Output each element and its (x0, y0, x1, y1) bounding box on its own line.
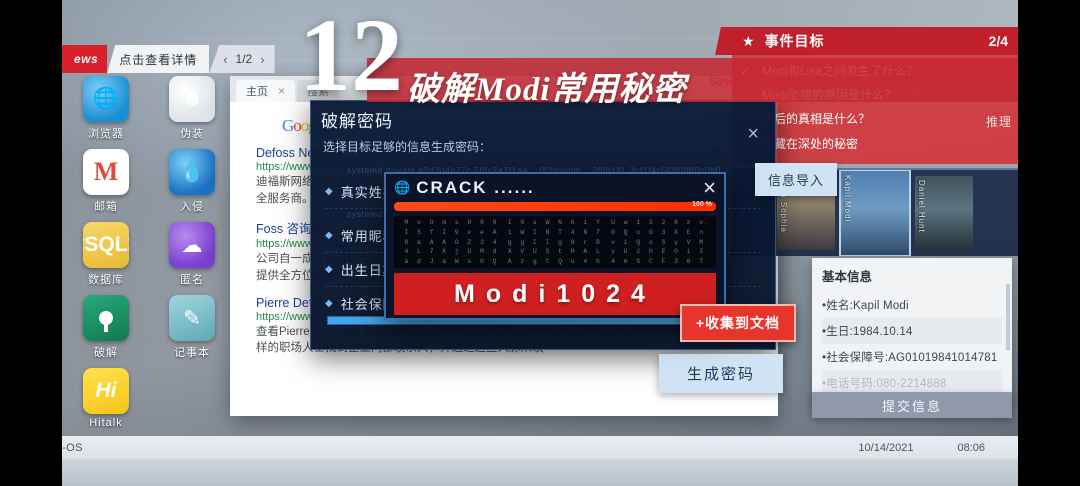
bullet-icon: ◆ (325, 230, 333, 241)
browser-tab-home[interactable]: 主页 × (236, 80, 295, 102)
scramble-row: a d J a W s 0 Q (404, 258, 499, 265)
percent-mark: 50% (710, 75, 750, 89)
news-ticker: ews 点击查看详情 ‹ 1/2 › (62, 45, 275, 73)
crack-modal-title: CRACK ...... (416, 178, 534, 198)
desktop-icon-label: Hitalk (68, 417, 144, 429)
desktop-icon-label: 浏览器 (68, 125, 144, 141)
info-card-scrollbar[interactable] (1006, 284, 1010, 350)
browser-tab-bar: 主页 × 搜索 (230, 76, 778, 102)
scramble-row: M v O m s 8 8 8 (404, 219, 499, 226)
info-card-title: 基本信息 (822, 266, 1002, 285)
desktop-icon-notes[interactable]: ✎ 记事本 (154, 295, 230, 360)
scramble-row: I 0 s W N 6 i Y (508, 219, 603, 226)
bullet-icon: ◆ (325, 264, 333, 275)
desktop-icon-label: 匿名 (154, 271, 230, 287)
desktop-icon-label: 邮箱 (68, 198, 144, 214)
logo-letter: o (293, 116, 301, 135)
close-icon[interactable]: × (747, 123, 759, 146)
browser-tab-label: 搜索 (307, 83, 329, 99)
basic-info-card: 基本信息 •姓名:Kapil Modi •生日:1984.10.14 •社会保障… (812, 258, 1012, 402)
screen-root: 🌐 浏览器 ☻ 伪装 邮箱 💧 入侵 <SQL> 数据库 ☁ 匿名 (0, 0, 1080, 486)
scramble-row: y U 2 h E 0 i I (611, 248, 706, 255)
scramble-row: A z g t Q u 4 b (508, 258, 603, 265)
objectives-header: ★ 事件目标 2/4 (732, 27, 1018, 55)
objective-text: Modi坠楼的原因是什么？ (762, 87, 896, 103)
drop-icon: 💧 (169, 149, 215, 195)
taskbar: MDK-OS 10/14/2021 08:06 星期四 (0, 436, 1080, 486)
desktop-icon-disguise[interactable]: ☻ 伪装 (154, 76, 230, 141)
background-line (242, 60, 762, 61)
scramble-column: U w 1 3 2 8 z v 0 Q o G 3 X E n v i Q o … (611, 219, 706, 265)
reasoning-button[interactable]: 推理 (986, 113, 1012, 130)
desktop-icon-anonymous[interactable]: ☁ 匿名 (154, 222, 230, 287)
taskbar-date: 10/14/2021 (858, 442, 913, 454)
collect-to-document-button[interactable]: +收集到文档 (680, 304, 796, 342)
desktop-icon-browser[interactable]: 🌐 浏览器 (68, 76, 144, 141)
game-viewport: 🌐 浏览器 ☻ 伪装 邮箱 💧 入侵 <SQL> 数据库 ☁ 匿名 (62, 0, 1018, 486)
generate-password-button[interactable]: 生成密码 (659, 354, 783, 393)
crack-progress-modal: 🌐 CRACK ...... × 100 % M v O m s 8 8 8 I… (384, 172, 726, 320)
news-badge: ews (62, 45, 107, 73)
scramble-grid: M v O m s 8 8 8 I S f I 9 v e A 8 a A A … (394, 216, 716, 268)
portrait-name: Kapil Modi (843, 175, 852, 222)
info-row-ssn: •社会保障号:AG01019841014781 (822, 344, 1002, 370)
mail-icon (83, 149, 129, 195)
portrait-name: Daniel Hunt (917, 180, 926, 233)
cracked-password-result: Modi1024 (394, 273, 716, 315)
desktop-icon-label: 记事本 (154, 344, 230, 360)
taskbar-inner: MDK-OS 10/14/2021 08:06 星期四 (0, 436, 1080, 460)
scramble-row: 1 W I N T 4 N 7 (508, 229, 603, 236)
news-prev-button[interactable]: ‹ (223, 52, 227, 67)
news-message[interactable]: 点击查看详情 (107, 45, 209, 73)
desktop-icon-grid: 🌐 浏览器 ☻ 伪装 邮箱 💧 入侵 <SQL> 数据库 ☁ 匿名 (68, 76, 243, 429)
mask-icon: ☻ (169, 76, 215, 122)
star-icon: ★ (742, 33, 755, 50)
submit-info-button[interactable]: 提交信息 (812, 392, 1012, 418)
news-page-indicator: 1/2 (236, 52, 253, 66)
desktop-icon-label: 入侵 (154, 198, 230, 214)
crack-progress-bar: 100 % (394, 202, 716, 211)
portrait-kapil-modi[interactable]: Kapil Modi (841, 171, 909, 255)
objective-item[interactable]: ✓ Modi和Lisa之间发生了什么？ (732, 59, 1018, 83)
bullet-icon: ◆ (325, 298, 333, 309)
scramble-row: 0 Q o G 3 X E n (611, 229, 706, 236)
panel-title: 破解密码 (311, 101, 775, 134)
taskbar-time: 08:06 (957, 442, 985, 454)
info-row-birthday: •生日:1984.10.14 (822, 318, 1002, 344)
objective-text: 隐藏在深处的秘密 (762, 136, 858, 152)
browser-icon: 🌐 (83, 76, 129, 122)
desktop-icon-intrusion[interactable]: 💧 入侵 (154, 149, 230, 214)
bullet-icon: ◆ (325, 186, 333, 197)
scramble-column: M v O m s 8 8 8 I S f I 9 v e A 8 a A A … (404, 219, 499, 265)
desktop-icon-crack[interactable]: 破解 (68, 295, 144, 360)
import-info-button[interactable]: 信息导入 (755, 163, 837, 196)
browser-tab-search[interactable]: 搜索 (297, 80, 339, 102)
scramble-row: 8 a A A O Z 3 4 (404, 239, 499, 246)
objective-text: Modi和Lisa之间发生了什么？ (762, 63, 918, 79)
desktop-icon-label: 数据库 (68, 271, 144, 287)
letterbox-right (1018, 0, 1080, 486)
objectives-title: 事件目标 (765, 31, 825, 51)
close-icon[interactable]: × (278, 84, 285, 98)
scramble-row: U w 1 3 2 8 z v (611, 219, 706, 226)
browser-tab-label: 主页 (246, 83, 268, 99)
desktop-icon-label: 破解 (68, 344, 144, 360)
desktop-icon-label: 伪装 (154, 125, 230, 141)
database-icon: <SQL> (83, 222, 129, 268)
notes-icon: ✎ (169, 295, 215, 341)
scramble-row: 4 m S C F 3 6 T (611, 258, 706, 265)
close-icon[interactable]: × (703, 177, 716, 199)
desktop-icon-database[interactable]: <SQL> 数据库 (68, 222, 144, 287)
info-row-name: •姓名:Kapil Modi (822, 292, 1002, 318)
logo-letter: G (282, 116, 293, 135)
crack-progress-percent: 100 % (692, 201, 712, 208)
objective-text: 背后的真相是什么？ (762, 111, 870, 127)
news-pager: ‹ 1/2 › (209, 45, 274, 73)
anonymous-icon: ☁ (169, 222, 215, 268)
scramble-row: v i Q o S y V M (611, 239, 706, 246)
desktop-icon-mail[interactable]: 邮箱 (68, 149, 144, 214)
scramble-row: X V U S t H A L (508, 248, 603, 255)
news-next-button[interactable]: › (260, 52, 264, 67)
hitalk-icon: Hi (83, 368, 129, 414)
scramble-column: I 0 s W N 6 i Y 1 W I N T 4 N 7 g g I I … (508, 219, 603, 265)
crack-modal-header: 🌐 CRACK ...... × (386, 174, 724, 202)
scramble-row: 4 L 7 K j U M d (404, 248, 499, 255)
globe-icon: 🌐 (394, 180, 410, 196)
desktop-icon-hitalk[interactable]: Hi Hitalk (68, 368, 144, 429)
scramble-row: I S f I 9 v e A (404, 229, 499, 236)
scramble-row: g g I I g 9 r B (508, 239, 603, 246)
crack-shield-icon (83, 295, 129, 341)
letterbox-left (0, 0, 62, 486)
panel-subtitle: 选择目标足够的信息生成密码： (311, 134, 775, 155)
portrait-daniel-hunt[interactable]: Daniel Hunt (915, 176, 973, 250)
objectives-count: 2/4 (989, 33, 1008, 49)
